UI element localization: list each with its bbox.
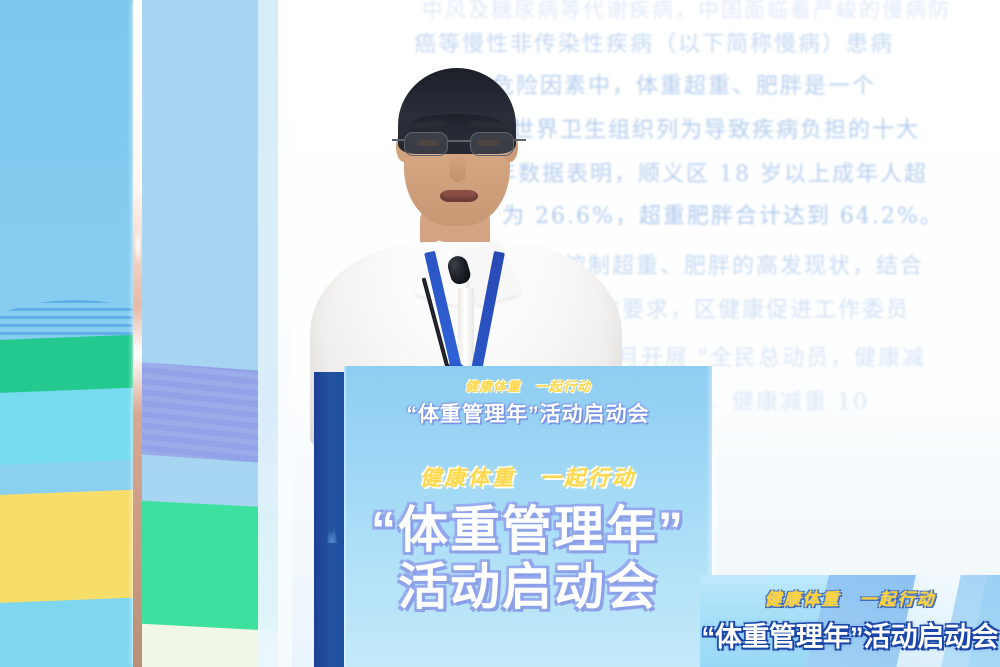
yellow-band bbox=[0, 489, 137, 613]
slide-line: 癌等慢性非传染性疾病（以下简称慢病）患病 bbox=[414, 26, 894, 58]
mouth bbox=[440, 190, 478, 202]
podium-top-banner: 健康体重 一起行动 “体重管理年”活动启动会 bbox=[344, 366, 712, 428]
wall-edge bbox=[278, 0, 292, 667]
banner-title: “体重管理年”活动启动会 bbox=[700, 615, 1000, 654]
panel-seam bbox=[133, 0, 142, 667]
lens-left bbox=[404, 132, 448, 156]
banner-subtitle: 健康体重 一起行动 bbox=[700, 585, 1000, 610]
cyan-band bbox=[0, 387, 137, 465]
slide-line: 中风及糖尿病等代谢疾病，中国面临着严峻的慢病防 bbox=[422, 0, 951, 24]
podium-side-panel bbox=[314, 372, 346, 667]
glasses-bridge bbox=[448, 140, 470, 142]
seam-highlight bbox=[134, 228, 142, 264]
glasses-temple-right bbox=[514, 139, 526, 141]
banner-text-block: 健康体重 一起行动 “体重管理年”活动启动会 bbox=[700, 575, 1000, 654]
podium-main-banner: 健康体重 一起行动 “体重管理年” 活动启动会 bbox=[344, 462, 712, 613]
speaker-figure bbox=[316, 56, 616, 386]
podium-main-subtitle: 健康体重 一起行动 bbox=[344, 462, 712, 492]
event-photo-scene: 中风及糖尿病等代谢疾病，中国面临着严峻的慢病防 癌等慢性非传染性疾病（以下简称慢… bbox=[0, 0, 1000, 667]
podium-front-panel: 健康体重 一起行动 “体重管理年”活动启动会 健康体重 一起行动 “体重管理年”… bbox=[344, 366, 712, 667]
podium-top-title: “体重管理年”活动启动会 bbox=[344, 398, 712, 428]
podium-headline-line2: 活动启动会 bbox=[344, 561, 712, 614]
podium-top-subtitle: 健康体重 一起行动 bbox=[344, 376, 712, 395]
bottom-sky-band bbox=[0, 597, 137, 667]
foreground-banner: 健康体重 一起行动 “体重管理年”活动启动会 bbox=[700, 575, 1000, 667]
nose bbox=[450, 152, 466, 182]
lens-right bbox=[470, 132, 514, 156]
podium-headline-line1: “体重管理年” bbox=[344, 504, 712, 557]
decor-panel-left bbox=[0, 0, 137, 667]
glasses-temple-left bbox=[392, 139, 404, 141]
